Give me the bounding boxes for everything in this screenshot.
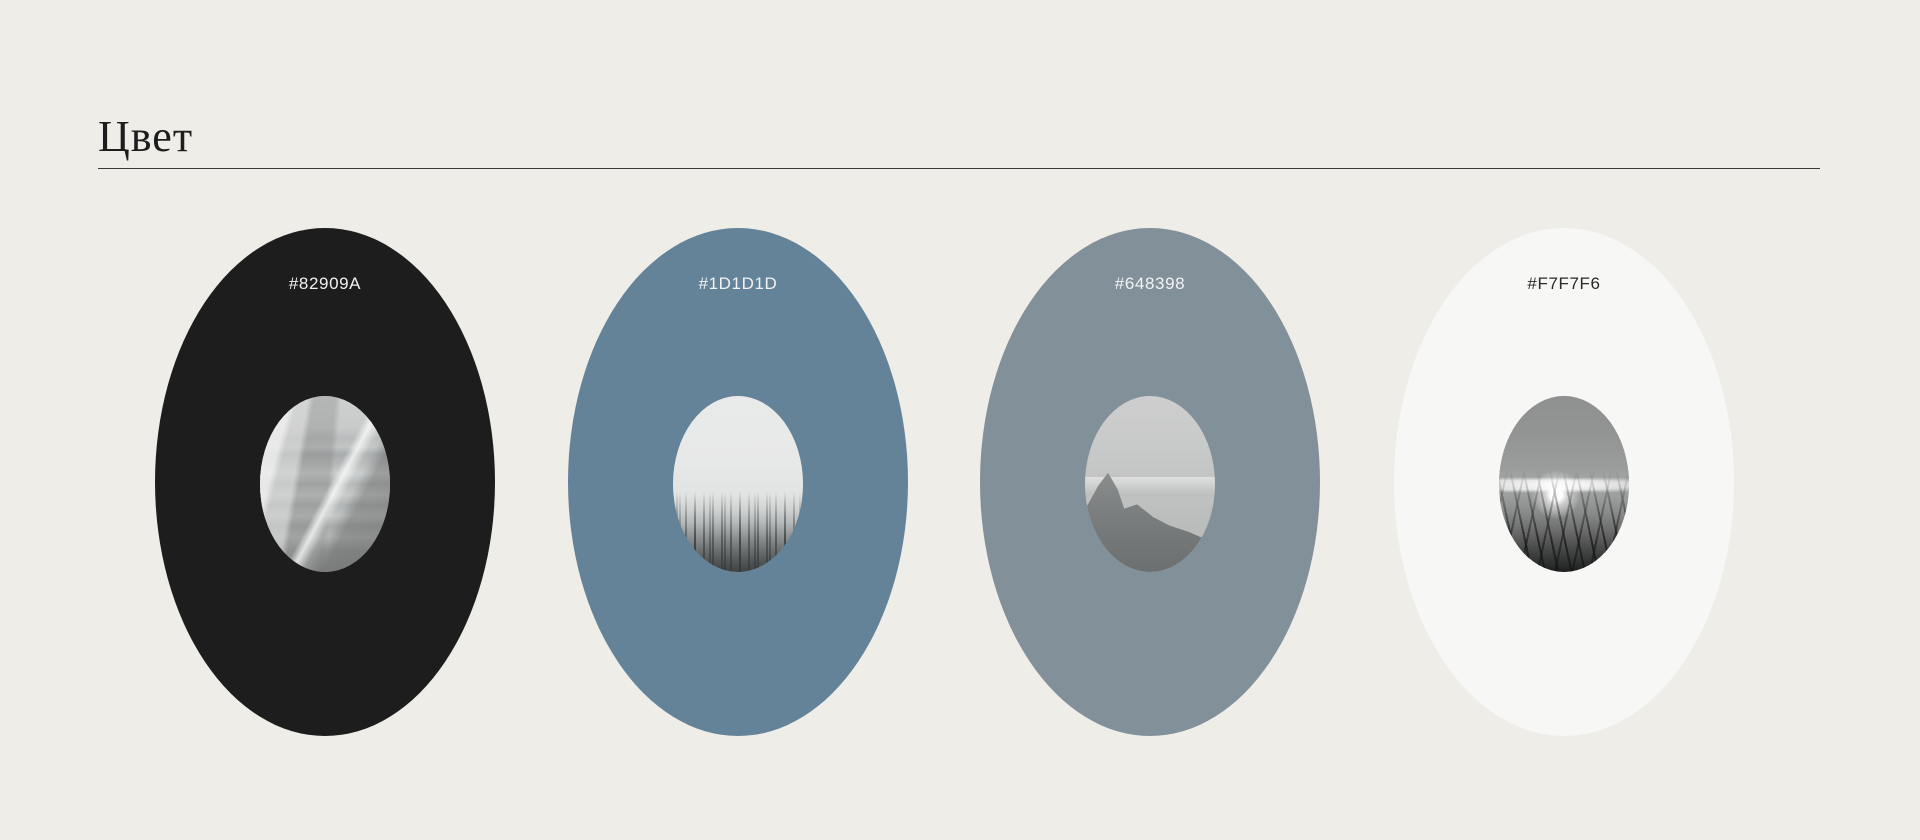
- color-swatch-row: #82909A #1D1D1D #648398 #F7F7F6: [0, 228, 1920, 740]
- photo-image: [673, 396, 803, 572]
- color-palette-page: Цвет #82909A #1D1D1D #648398 #F7F7F6: [0, 0, 1920, 840]
- misty-forest-photo: [673, 396, 803, 572]
- color-swatch[interactable]: #82909A: [155, 228, 495, 736]
- color-swatch[interactable]: #F7F7F6: [1394, 228, 1734, 736]
- photo-image: [260, 396, 390, 572]
- color-swatch[interactable]: #1D1D1D: [568, 228, 908, 736]
- swatch-hex-label: #648398: [980, 274, 1320, 294]
- color-swatch[interactable]: #648398: [980, 228, 1320, 736]
- swatch-hex-label: #F7F7F6: [1394, 274, 1734, 294]
- sunset-branches-photo: [1499, 396, 1629, 572]
- header-divider: [98, 168, 1820, 169]
- swatch-hex-label: #1D1D1D: [568, 274, 908, 294]
- swatch-hex-label: #82909A: [155, 274, 495, 294]
- photo-image: [1499, 396, 1629, 572]
- mountain-peak-photo: [1085, 396, 1215, 572]
- photo-image: [1085, 396, 1215, 572]
- beach-shoreline-photo: [260, 396, 390, 572]
- page-title: Цвет: [98, 115, 193, 159]
